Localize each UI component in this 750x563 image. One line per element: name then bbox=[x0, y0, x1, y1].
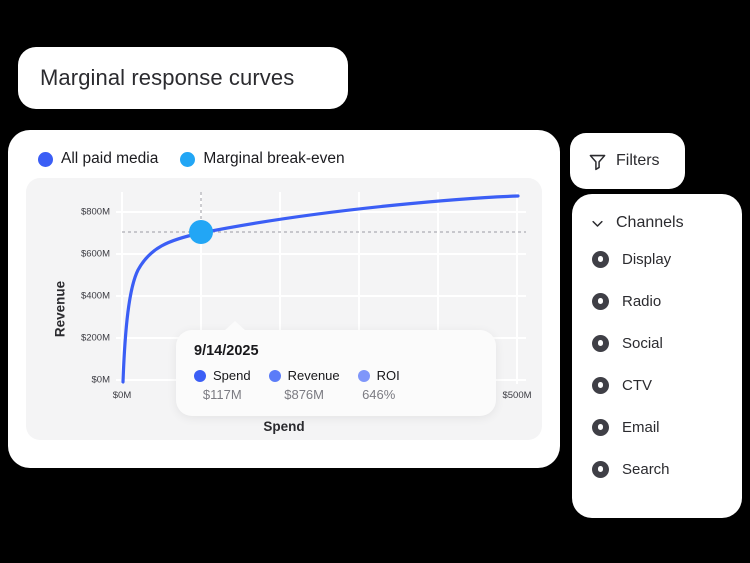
channels-title: Channels bbox=[616, 214, 684, 232]
tooltip-metrics: Spend $117M Revenue $876M bbox=[194, 368, 478, 402]
radio-dot-icon bbox=[592, 251, 609, 268]
channel-item-email[interactable]: Email bbox=[572, 406, 742, 448]
legend-dot-icon bbox=[180, 152, 195, 167]
tooltip-metric-spend: Spend $117M bbox=[194, 368, 251, 402]
highlight-point-marker bbox=[189, 220, 213, 244]
channel-item-search[interactable]: Search bbox=[572, 448, 742, 490]
channels-header[interactable]: Channels bbox=[572, 210, 742, 238]
metric-value: 646% bbox=[358, 387, 400, 402]
channels-panel: Channels Display Radio Social CTV Email … bbox=[572, 194, 742, 518]
radio-dot-icon bbox=[592, 377, 609, 394]
chevron-down-icon bbox=[590, 216, 605, 231]
tooltip-metric-roi: ROI 646% bbox=[358, 368, 400, 402]
radio-dot-icon bbox=[592, 461, 609, 478]
channel-item-display[interactable]: Display bbox=[572, 238, 742, 280]
metric-value: $876M bbox=[269, 387, 340, 402]
chart-card: All paid media Marginal break-even Reven… bbox=[8, 130, 560, 468]
filters-label: Filters bbox=[616, 152, 660, 170]
metric-dot-icon bbox=[358, 370, 370, 382]
radio-dot-icon bbox=[592, 293, 609, 310]
chart-tooltip: 9/14/2025 Spend $117M Revenue bbox=[176, 330, 496, 416]
page-root: Marginal response curves All paid media … bbox=[0, 0, 750, 563]
funnel-icon bbox=[588, 152, 607, 171]
channel-label: Email bbox=[622, 419, 660, 436]
metric-dot-icon bbox=[194, 370, 206, 382]
page-title-card: Marginal response curves bbox=[18, 47, 348, 109]
plot-area[interactable]: Revenue Spend $0M $200M $400M $600M $800… bbox=[26, 178, 542, 440]
metric-dot-icon bbox=[269, 370, 281, 382]
channel-label: Radio bbox=[622, 293, 661, 310]
channel-label: Display bbox=[622, 251, 671, 268]
metric-value: $117M bbox=[194, 387, 251, 402]
channel-item-radio[interactable]: Radio bbox=[572, 280, 742, 322]
channel-label: CTV bbox=[622, 377, 652, 394]
channel-item-ctv[interactable]: CTV bbox=[572, 364, 742, 406]
chart-legend: All paid media Marginal break-even bbox=[26, 144, 542, 178]
metric-name: ROI bbox=[377, 368, 400, 383]
radio-dot-icon bbox=[592, 419, 609, 436]
legend-label: All paid media bbox=[61, 150, 158, 168]
legend-item-marginal-break-even[interactable]: Marginal break-even bbox=[180, 150, 344, 168]
tooltip-date: 9/14/2025 bbox=[194, 343, 478, 359]
filters-button[interactable]: Filters bbox=[570, 133, 685, 189]
page-title: Marginal response curves bbox=[40, 65, 294, 91]
radio-dot-icon bbox=[592, 335, 609, 352]
metric-name: Spend bbox=[213, 368, 251, 383]
channel-label: Social bbox=[622, 335, 663, 352]
legend-label: Marginal break-even bbox=[203, 150, 344, 168]
tooltip-metric-revenue: Revenue $876M bbox=[269, 368, 340, 402]
metric-name: Revenue bbox=[288, 368, 340, 383]
channel-label: Search bbox=[622, 461, 670, 478]
legend-item-all-paid-media[interactable]: All paid media bbox=[38, 150, 158, 168]
legend-dot-icon bbox=[38, 152, 53, 167]
channel-item-social[interactable]: Social bbox=[572, 322, 742, 364]
